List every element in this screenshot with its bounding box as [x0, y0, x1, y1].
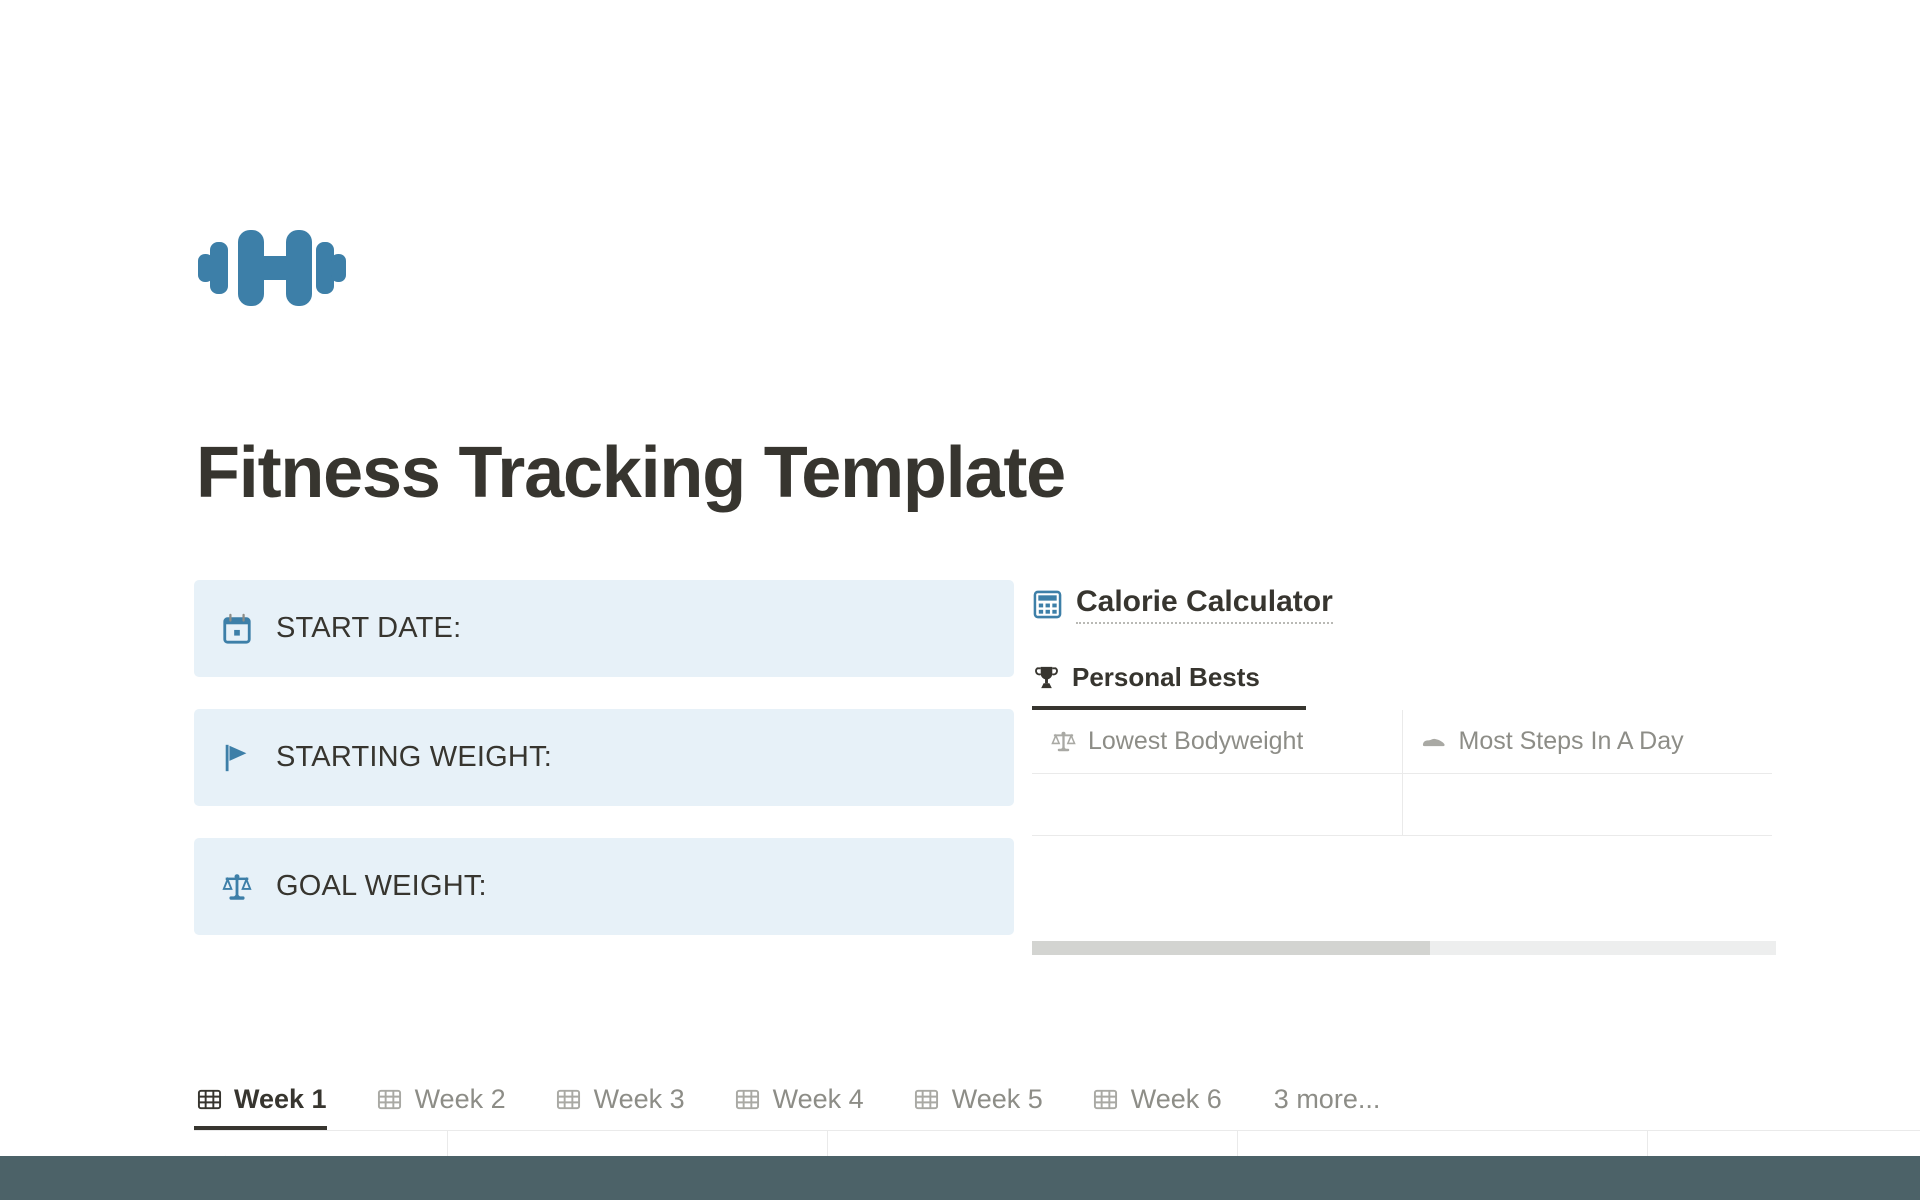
table-icon	[556, 1086, 582, 1112]
table-row[interactable]	[1032, 774, 1772, 836]
horizontal-scrollbar[interactable]	[1032, 941, 1776, 955]
table-icon	[914, 1086, 940, 1112]
tab-label: Week 2	[415, 1084, 506, 1115]
tab-week-1[interactable]: Week 1	[194, 1068, 349, 1130]
personal-bests-title: Personal Bests	[1072, 662, 1260, 693]
tab-label: Week 6	[1131, 1084, 1222, 1115]
tab-label: Week 3	[594, 1084, 685, 1115]
calendar-icon	[220, 612, 254, 646]
table-header-row: Lowest Bodyweight Most Steps In A Day	[1032, 710, 1772, 774]
cell-lowest-bodyweight[interactable]	[1032, 774, 1402, 836]
balance-scale-icon	[1050, 729, 1076, 755]
column-name: Lowest Bodyweight	[1088, 727, 1303, 756]
tab-week-5[interactable]: Week 5	[912, 1068, 1065, 1130]
callout-label: STARTING WEIGHT:	[276, 741, 552, 774]
column-name: Most Steps In A Day	[1459, 727, 1684, 756]
tab-label: Week 1	[234, 1084, 327, 1115]
calorie-calculator-link[interactable]: Calorie Calculator	[1032, 578, 1822, 630]
balance-scale-icon	[220, 870, 254, 904]
calculator-icon	[1032, 589, 1062, 619]
page-title: Fitness Tracking Template	[196, 434, 1065, 513]
tab-week-2[interactable]: Week 2	[375, 1068, 528, 1130]
tab-week-3[interactable]: Week 3	[554, 1068, 707, 1130]
callout-list: START DATE: STARTING WEIGHT:	[194, 580, 1014, 967]
column-header-lowest-bodyweight[interactable]: Lowest Bodyweight	[1032, 710, 1402, 774]
trophy-icon	[1032, 663, 1060, 691]
callout-starting-weight[interactable]: STARTING WEIGHT:	[194, 709, 1014, 806]
table-icon	[196, 1086, 222, 1112]
column-header-most-steps-in-a-day[interactable]: Most Steps In A Day	[1402, 710, 1772, 774]
personal-bests-title-row[interactable]: Personal Bests	[1032, 654, 1822, 700]
scrollbar-thumb[interactable]	[1032, 941, 1430, 955]
callout-label: START DATE:	[276, 612, 461, 645]
callout-goal-weight[interactable]: GOAL WEIGHT:	[194, 838, 1014, 935]
table-icon	[1093, 1086, 1119, 1112]
tab-week-6[interactable]: Week 6	[1091, 1068, 1244, 1130]
personal-bests-table: Lowest Bodyweight Most Steps In A Day	[1032, 710, 1772, 836]
bottom-status-bar	[0, 1156, 1920, 1200]
tab-more-button[interactable]: 3 more...	[1270, 1068, 1381, 1130]
dumbbell-icon[interactable]	[198, 222, 346, 314]
week-tab-bar: Week 1 Week 2 Week 3	[194, 1068, 1380, 1130]
cell-most-steps-in-a-day[interactable]	[1402, 774, 1772, 836]
calorie-calculator-label[interactable]: Calorie Calculator	[1076, 585, 1333, 624]
callout-label: GOAL WEIGHT:	[276, 870, 487, 903]
tab-label: Week 5	[952, 1084, 1043, 1115]
callout-start-date[interactable]: START DATE:	[194, 580, 1014, 677]
tab-label: Week 4	[773, 1084, 864, 1115]
shoe-icon	[1421, 729, 1447, 755]
right-panel: Calorie Calculator Personal Bests	[1032, 578, 1822, 836]
flag-icon	[220, 741, 254, 775]
table-icon	[377, 1086, 403, 1112]
tab-week-4[interactable]: Week 4	[733, 1068, 886, 1130]
table-icon	[735, 1086, 761, 1112]
page-root: Fitness Tracking Template START DATE:	[0, 0, 1920, 1200]
